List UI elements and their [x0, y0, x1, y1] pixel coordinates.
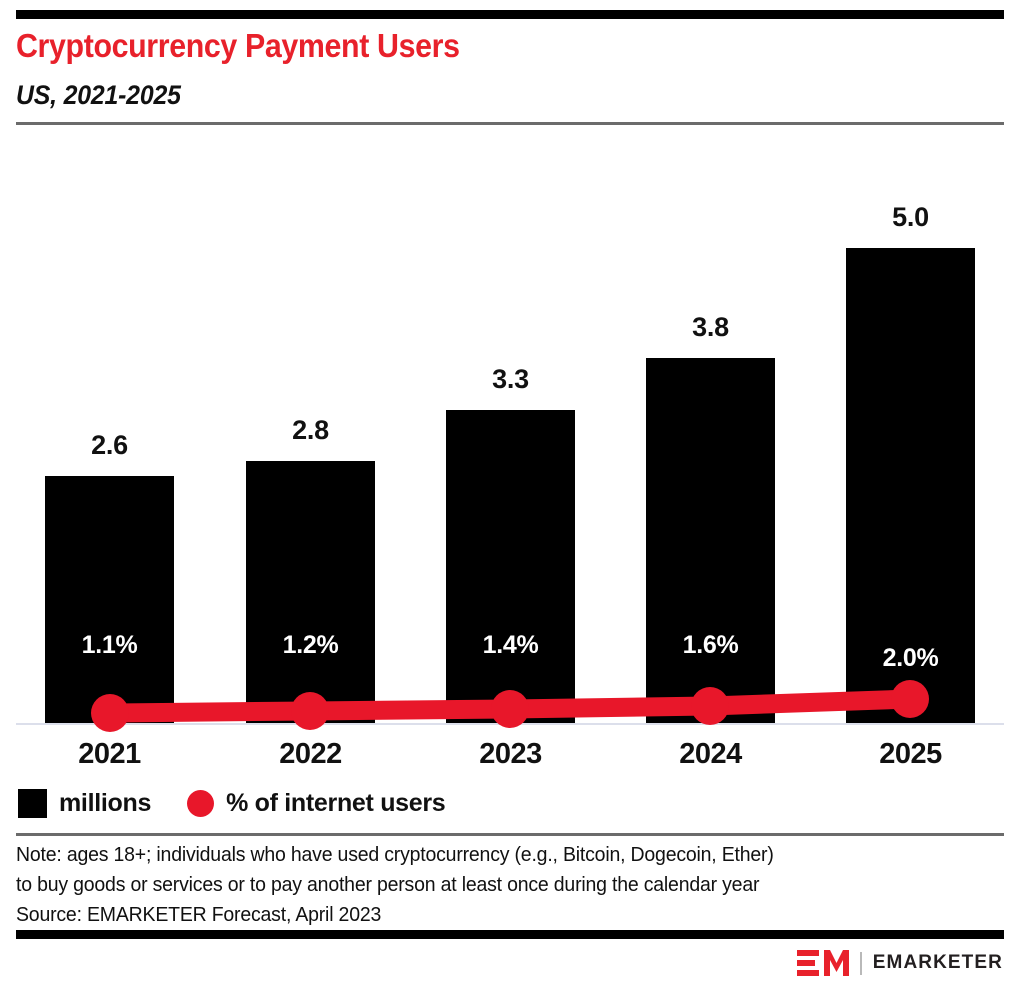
plot-area: 2.6 2.8 3.3 3.8 5.0 1.1% 1.2% 1.4% 1.6% …: [0, 0, 1020, 984]
legend-label-percent-internet-users: % of internet users: [226, 789, 445, 818]
chart-page: Cryptocurrency Payment Users US, 2021-20…: [0, 0, 1020, 984]
bottom-rule: [16, 930, 1004, 939]
em-logo-icon: [797, 950, 849, 976]
x-label-2024: 2024: [646, 738, 775, 771]
bar-2022: [246, 461, 375, 723]
bar-2024: [646, 358, 775, 723]
page-title: Cryptocurrency Payment Users: [16, 27, 460, 65]
brand-wordmark: EMARKETER: [873, 952, 1003, 974]
point-2021: [91, 694, 129, 732]
brand-footer: EMARKETER: [797, 950, 1003, 976]
x-label-2021: 2021: [45, 738, 174, 771]
footnotes: Note: ages 18+; individuals who have use…: [16, 840, 1004, 930]
pct-label-2025: 2.0%: [846, 644, 975, 673]
black-square-icon: [18, 789, 47, 818]
x-axis-line: [16, 723, 1004, 725]
bar-value-2021: 2.6: [45, 430, 174, 461]
pct-label-2022: 1.2%: [246, 631, 375, 660]
percent-line-series: [0, 0, 1020, 984]
bar-value-2023: 3.3: [446, 364, 575, 395]
legend-item-millions: millions: [18, 789, 151, 818]
chart-legend: millions % of internet users: [18, 789, 445, 818]
pct-label-2024: 1.6%: [646, 631, 775, 660]
pct-label-2023: 1.4%: [446, 631, 575, 660]
note-line-2: to buy goods or services or to pay anoth…: [16, 870, 955, 900]
top-rule: [16, 10, 1004, 19]
bar-value-2022: 2.8: [246, 415, 375, 446]
point-2025: [891, 680, 929, 718]
pct-label-2021: 1.1%: [45, 631, 174, 660]
red-circle-icon: [187, 790, 214, 817]
point-2023: [491, 690, 529, 728]
x-label-2025: 2025: [846, 738, 975, 771]
page-subtitle: US, 2021-2025: [16, 80, 181, 111]
legend-label-millions: millions: [59, 789, 151, 818]
x-label-2023: 2023: [446, 738, 575, 771]
bar-2021: [45, 476, 174, 723]
bar-value-2024: 3.8: [646, 312, 775, 343]
point-2022: [291, 692, 329, 730]
footnote-divider: [16, 833, 1004, 836]
header-divider: [16, 122, 1004, 125]
bar-value-2025: 5.0: [846, 202, 975, 233]
point-2024: [691, 687, 729, 725]
bar-2023: [446, 410, 575, 723]
legend-item-percent-internet-users: % of internet users: [187, 789, 445, 818]
note-line-1: Note: ages 18+; individuals who have use…: [16, 840, 955, 870]
brand-divider: [860, 952, 862, 975]
bar-2025: [846, 248, 975, 723]
x-label-2022: 2022: [246, 738, 375, 771]
source-line: Source: EMARKETER Forecast, April 2023: [16, 900, 955, 930]
